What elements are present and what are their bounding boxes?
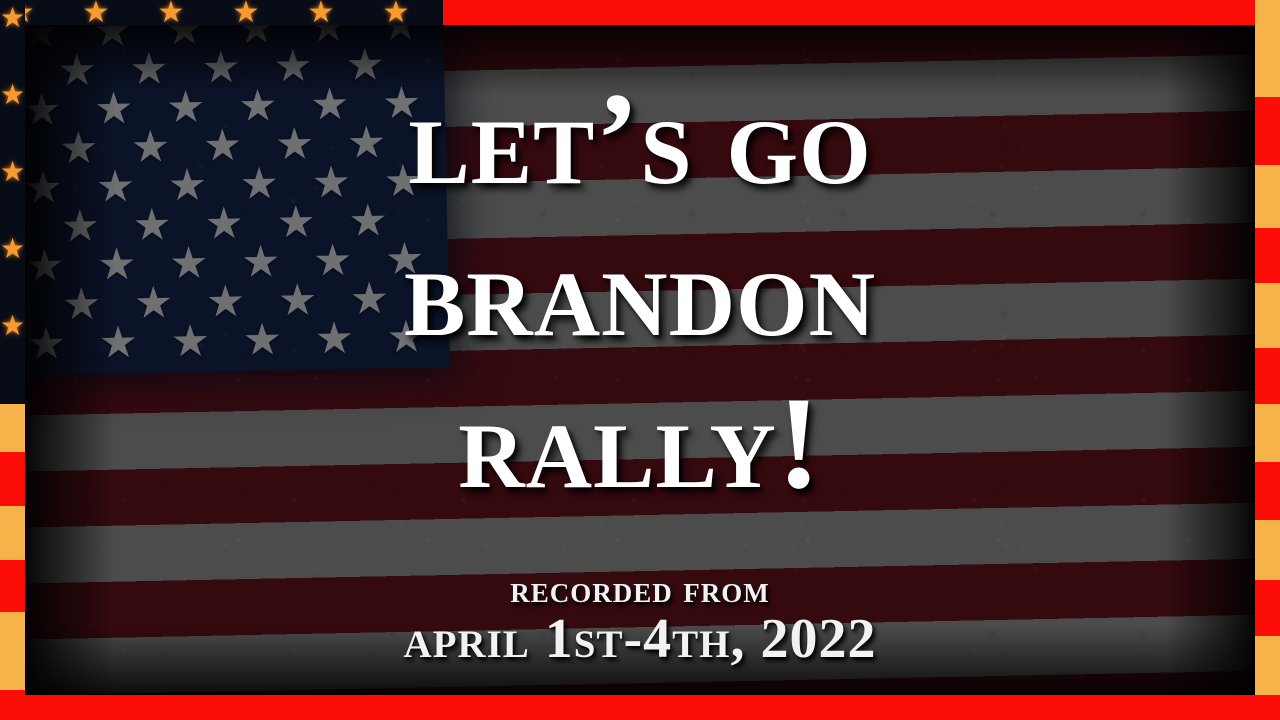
border-star-icon: ★ (306, 0, 336, 27)
border-star-icon: ★ (231, 0, 261, 27)
border-bottom-band (0, 695, 1280, 720)
poster-canvas: ★★★★★★★★★★★★★★★★★★★★★★★★★★★★★★★★★★★★★★★★… (0, 0, 1280, 720)
headline-line-3: Rally! (25, 377, 1255, 509)
border-top-band: ★★★★★★ (0, 0, 1280, 25)
border-star-icon: ★ (0, 6, 26, 32)
subtitle-recorded-from: Recorded From (25, 571, 1255, 609)
border-star-icon: ★ (0, 314, 26, 340)
border-star-icon: ★ (156, 0, 186, 27)
subtitle-date-range: April 1st-4th, 2022 (25, 611, 1255, 667)
border-star-icon: ★ (381, 0, 411, 27)
border-star-icon: ★ (0, 83, 26, 109)
border-star-icon: ★ (0, 237, 26, 263)
border-left-band: ★★★★★ (0, 0, 25, 720)
headline-line-1: Let’s Go (25, 73, 1255, 205)
border-right-band (1255, 0, 1280, 720)
border-star-icon: ★ (0, 160, 26, 186)
flag-background: ★★★★★★★★★★★★★★★★★★★★★★★★★★★★★★★★★★★★★★★★… (25, 25, 1255, 695)
poster-text-block: Let’s Go Brandon Rally! Recorded From Ap… (25, 25, 1255, 695)
border-star-icon: ★ (6, 0, 36, 27)
border-star-icon: ★ (81, 0, 111, 27)
headline-line-2: Brandon (25, 225, 1255, 357)
